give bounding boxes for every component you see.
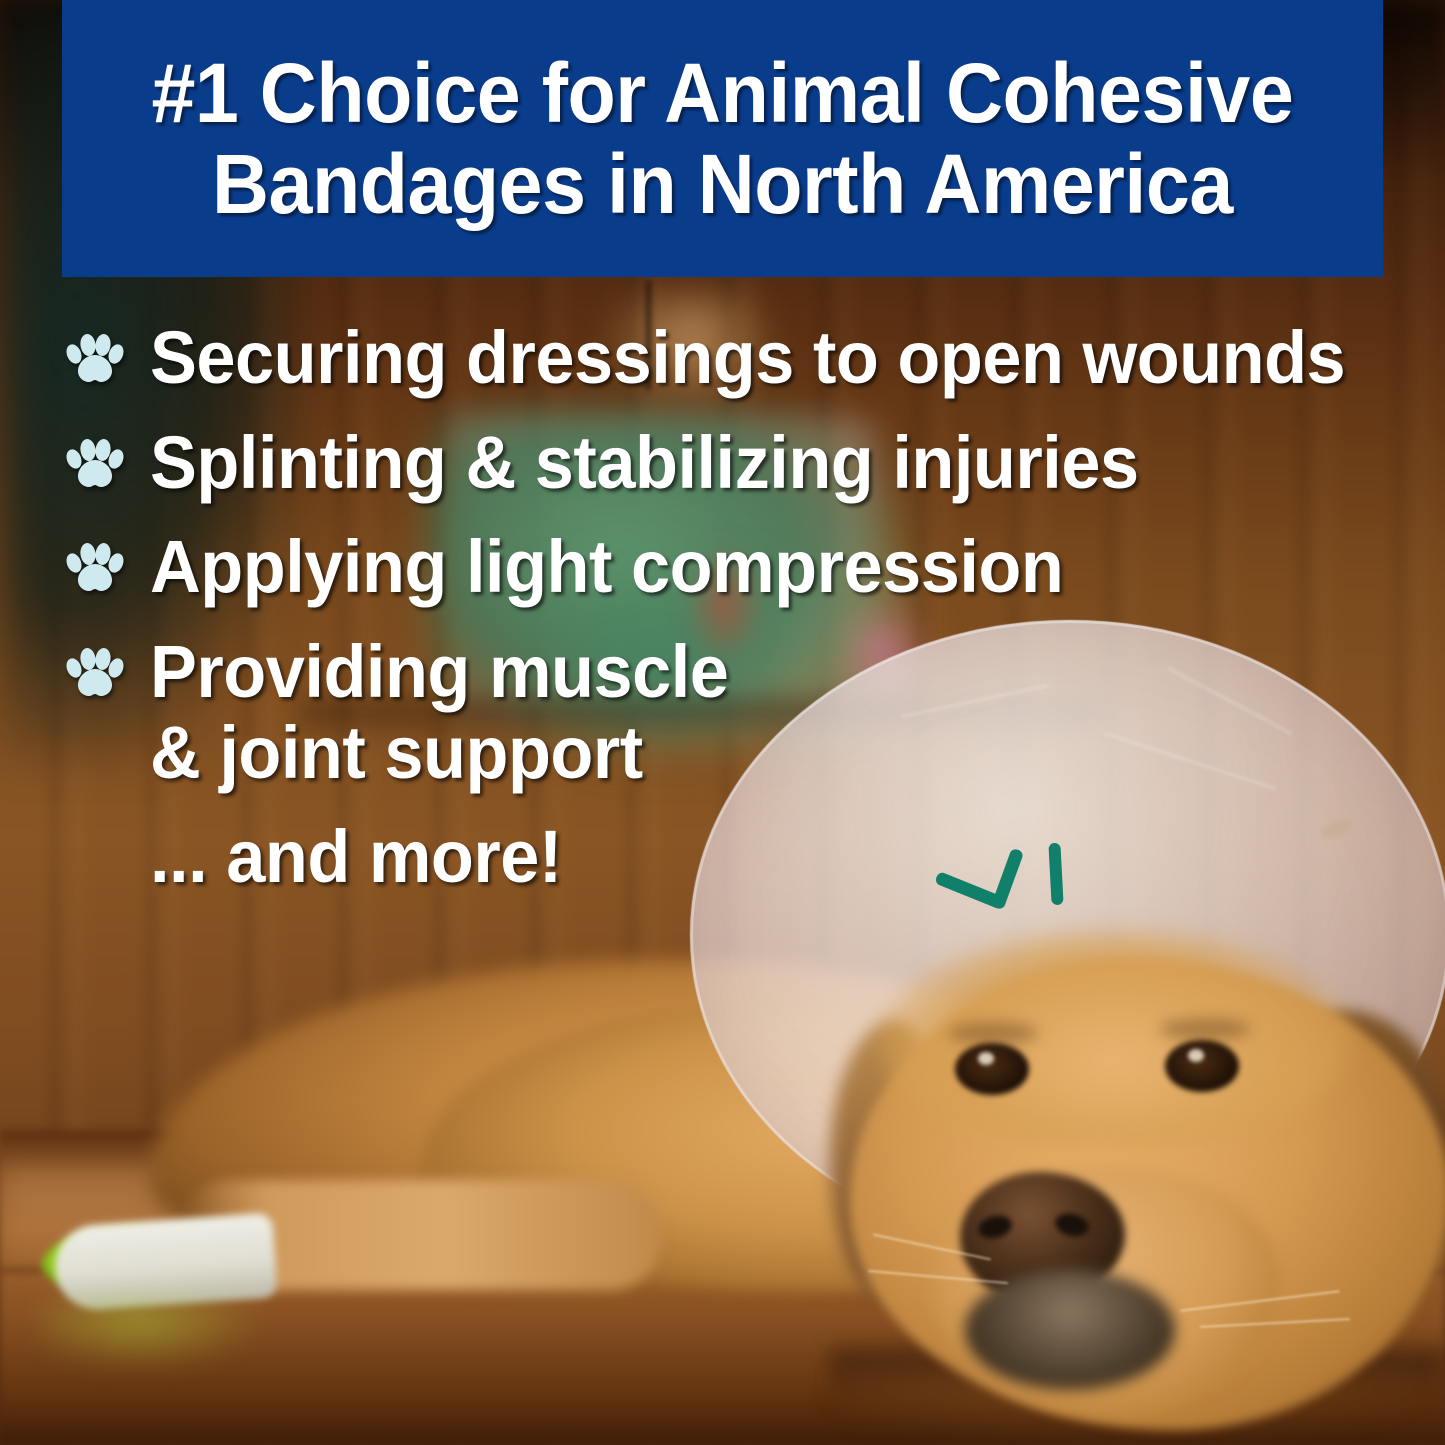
dog-eye-left <box>955 1043 1029 1095</box>
paw-print-icon <box>66 334 124 388</box>
list-item: Securing dressings to open wounds <box>66 318 1426 399</box>
list-item: Applying light compression <box>66 527 1426 608</box>
dog-forehead <box>880 930 1350 1150</box>
list-item-label: Applying light compression <box>150 527 1063 608</box>
list-item: Splinting & stabilizing injuries <box>66 423 1426 504</box>
list-item-label: Splinting & stabilizing injuries <box>150 423 1139 504</box>
paw-print-icon <box>66 543 124 597</box>
dog-eye-right <box>1165 1040 1239 1092</box>
bandaged-paw <box>52 1212 277 1312</box>
list-item-more: ... and more! <box>66 817 1426 898</box>
paw-print-icon <box>66 648 124 702</box>
page-title: #1 Choice for Animal Cohesive Bandages i… <box>152 48 1294 229</box>
list-item-more-label: ... and more! <box>150 817 562 898</box>
toy-floor-reflection <box>40 1300 260 1370</box>
paw-print-icon <box>66 439 124 493</box>
list-item: Providing muscle & joint support <box>66 632 1426 793</box>
dog-chin <box>965 1270 1175 1390</box>
header-banner: #1 Choice for Animal Cohesive Bandages i… <box>62 0 1383 277</box>
marketing-poster: #1 Choice for Animal Cohesive Bandages i… <box>0 0 1445 1445</box>
benefits-list: Securing dressings to open wounds Splint… <box>66 318 1426 922</box>
list-item-label: Securing dressings to open wounds <box>150 318 1345 399</box>
dog-eye-glint <box>978 1052 994 1065</box>
dog-eye-glint <box>1188 1049 1204 1062</box>
dog-brow <box>1160 1018 1250 1040</box>
dog-brow <box>948 1022 1038 1044</box>
list-item-label: Providing muscle & joint support <box>150 632 728 793</box>
